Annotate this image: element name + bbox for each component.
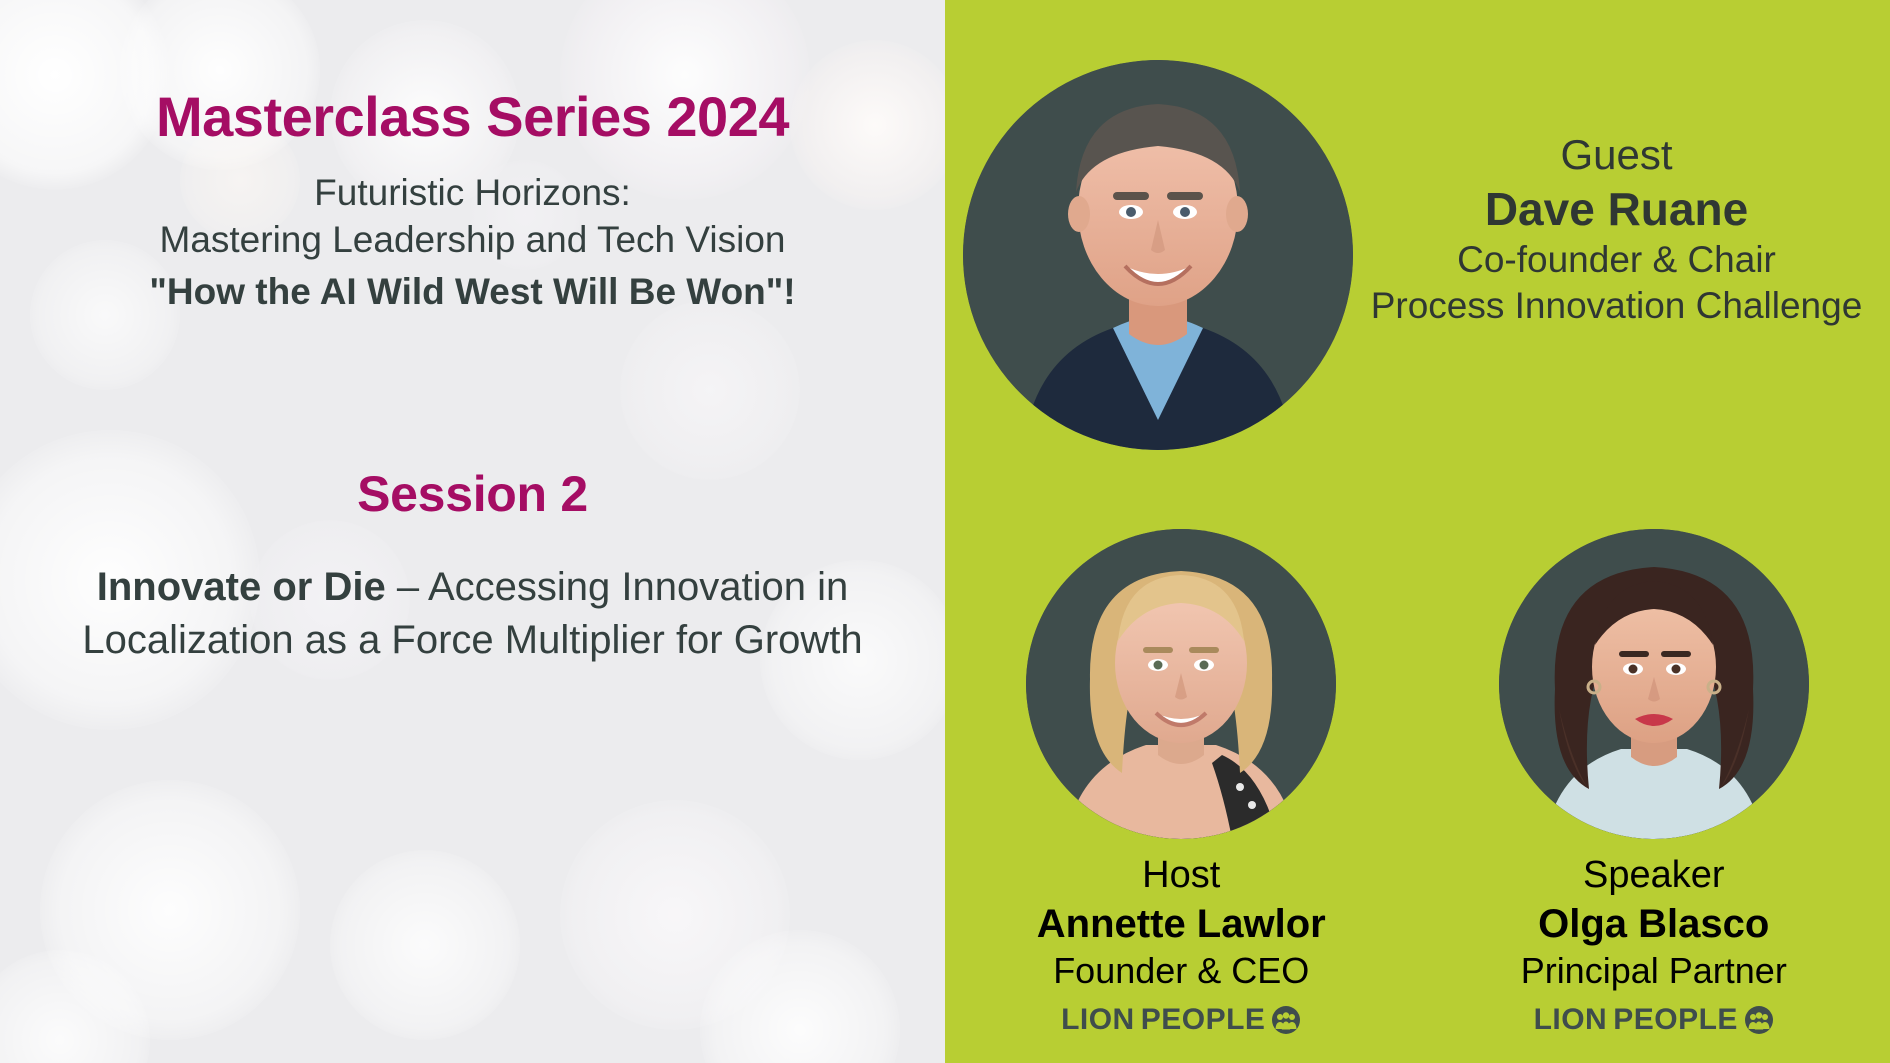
host-title: Founder & CEO bbox=[971, 948, 1391, 993]
title-block: Masterclass Series 2024 Futuristic Horiz… bbox=[22, 88, 923, 315]
session-block: Session 2 Innovate or Die – Accessing In… bbox=[22, 465, 923, 667]
logo-text-people: PEOPLE bbox=[1141, 1003, 1266, 1037]
host-role-label: Host bbox=[971, 853, 1391, 898]
guest-text-block: Guest Dave Ruane Co-founder & Chair Proc… bbox=[1353, 60, 1890, 329]
event-promo-banner: Masterclass Series 2024 Futuristic Horiz… bbox=[0, 0, 1890, 1063]
avatar-dave-ruane bbox=[963, 60, 1353, 450]
speaker-name: Olga Blasco bbox=[1444, 900, 1864, 948]
people-circle-icon bbox=[1271, 1005, 1301, 1035]
session-label: Session 2 bbox=[22, 465, 923, 523]
people-circle-icon bbox=[1744, 1005, 1774, 1035]
left-panel: Masterclass Series 2024 Futuristic Horiz… bbox=[0, 0, 945, 1063]
subtitle-line-2: Mastering Leadership and Tech Vision bbox=[22, 216, 923, 263]
logo-text-lion: LION bbox=[1534, 1003, 1608, 1037]
subtitle-line-3: "How the AI Wild West Will Be Won"! bbox=[22, 268, 923, 315]
guest-title-line-1: Co-founder & Chair bbox=[1353, 237, 1880, 283]
logo-text-lion: LION bbox=[1061, 1003, 1135, 1037]
subtitle-line-1: Futuristic Horizons: bbox=[22, 169, 923, 216]
bottom-speakers-row: Host Annette Lawlor Founder & CEO LION P… bbox=[945, 529, 1890, 1037]
person-card-speaker: Speaker Olga Blasco Principal Partner LI… bbox=[1444, 529, 1864, 1037]
guest-row: Guest Dave Ruane Co-founder & Chair Proc… bbox=[945, 60, 1890, 450]
person-card-host: Host Annette Lawlor Founder & CEO LION P… bbox=[971, 529, 1391, 1037]
logo-text-people: PEOPLE bbox=[1613, 1003, 1738, 1037]
lionpeople-logo-speaker: LION PEOPLE bbox=[1444, 1003, 1864, 1037]
page-title: Masterclass Series 2024 bbox=[22, 88, 923, 147]
guest-role-label: Guest bbox=[1353, 130, 1880, 180]
avatar-annette-lawlor bbox=[1026, 529, 1336, 839]
left-content: Masterclass Series 2024 Futuristic Horiz… bbox=[0, 0, 945, 1063]
speaker-role-label: Speaker bbox=[1444, 853, 1864, 898]
subtitle-block: Futuristic Horizons: Mastering Leadershi… bbox=[22, 169, 923, 315]
lionpeople-logo-host: LION PEOPLE bbox=[971, 1003, 1391, 1037]
guest-title-line-2: Process Innovation Challenge bbox=[1353, 283, 1880, 329]
session-desc-highlight: Innovate or Die bbox=[97, 565, 386, 609]
host-name: Annette Lawlor bbox=[971, 900, 1391, 948]
right-panel: Guest Dave Ruane Co-founder & Chair Proc… bbox=[945, 0, 1890, 1063]
guest-name: Dave Ruane bbox=[1353, 182, 1880, 237]
speaker-title: Principal Partner bbox=[1444, 948, 1864, 993]
avatar-olga-blasco bbox=[1499, 529, 1809, 839]
session-description: Innovate or Die – Accessing Innovation i… bbox=[22, 561, 923, 667]
